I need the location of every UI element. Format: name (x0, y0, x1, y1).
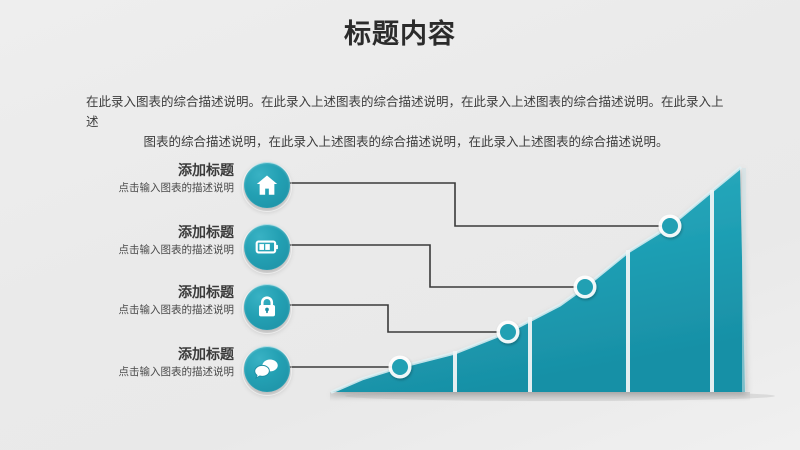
legend-desc-2: 点击输入图表的描述说明 (64, 242, 234, 259)
chart-ground-shadow (330, 391, 775, 401)
legend-text-2: 添加标题 点击输入图表的描述说明 (64, 222, 234, 259)
legend-row-2[interactable]: 添加标题 点击输入图表的描述说明 (60, 222, 290, 276)
legend-text-3: 添加标题 点击输入图表的描述说明 (64, 282, 234, 319)
legend-title-1: 添加标题 (64, 160, 234, 180)
legend-badge-1[interactable] (244, 162, 290, 208)
chart-marker-3 (574, 276, 597, 299)
legend-row-3[interactable]: 添加标题 点击输入图表的描述说明 (60, 282, 290, 336)
legend-text-1: 添加标题 点击输入图表的描述说明 (64, 160, 234, 197)
legend-row-1[interactable]: 添加标题 点击输入图表的描述说明 (60, 160, 290, 214)
legend-badge-2[interactable] (244, 224, 290, 270)
battery-icon (254, 234, 280, 260)
chat-icon (253, 355, 281, 383)
legend-desc-3: 点击输入图表的描述说明 (64, 302, 234, 319)
legend-badge-4[interactable] (244, 346, 290, 392)
legend-text-4: 添加标题 点击输入图表的描述说明 (64, 344, 234, 381)
legend-desc-1: 点击输入图表的描述说明 (64, 180, 234, 197)
chart-marker-4 (659, 215, 682, 238)
presentation-slide: 标题内容 在此录入图表的综合描述说明。在此录入上述图表的综合描述说明，在此录入上… (0, 0, 800, 450)
connector-line-1 (282, 183, 664, 226)
legend-desc-4: 点击输入图表的描述说明 (64, 364, 234, 381)
legend-title-2: 添加标题 (64, 222, 234, 242)
legend-title-4: 添加标题 (64, 344, 234, 364)
legend-badge-3[interactable] (244, 284, 290, 330)
chart-marker-2 (497, 321, 520, 344)
home-icon (254, 172, 280, 198)
chart-marker-1 (389, 356, 412, 379)
legend-title-3: 添加标题 (64, 282, 234, 302)
lock-icon (254, 294, 280, 320)
connector-line-2 (282, 245, 579, 287)
connector-line-3 (282, 305, 502, 332)
legend-row-4[interactable]: 添加标题 点击输入图表的描述说明 (60, 344, 290, 398)
